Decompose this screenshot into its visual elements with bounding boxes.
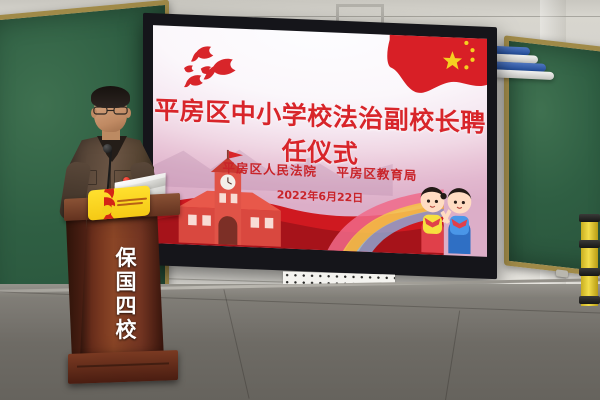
microphone-head[interactable]: [103, 144, 112, 153]
led-screen[interactable]: 平房区中小学校法治副校长聘任仪式 平房区人民法院 平房区教育局 2022年6月2…: [143, 13, 497, 280]
yellow-black-warning-pole: [581, 214, 598, 306]
podium-char-2: 国: [116, 272, 137, 293]
podium-base: [68, 350, 178, 384]
eyeglasses-icon: [93, 106, 128, 115]
speaker-hair: [91, 86, 130, 108]
podium-char-1: 保: [116, 248, 137, 269]
school-name-text-block: [117, 193, 147, 212]
organizer-education-bureau: 平房区教育局: [336, 164, 417, 182]
organizer-court: 平房区人民法院: [223, 160, 318, 179]
podium-char-4: 校: [116, 320, 137, 341]
china-flag-icon: [380, 26, 487, 109]
podium-sign-text: 保 国 四 校: [106, 248, 146, 341]
school-crest-plaque: [88, 185, 150, 220]
photo-scene: 平房区中小学校法治副校长聘任仪式 平房区人民法院 平房区教育局 2022年6月2…: [0, 0, 600, 400]
podium-base-groove: [77, 362, 169, 367]
board-bracket: [556, 269, 568, 277]
podium-char-3: 四: [116, 296, 137, 317]
speaking-podium: 保 国 四 校: [62, 196, 182, 382]
slide-surface: 平房区中小学校法治副校长聘任仪式 平房区人民法院 平房区教育局 2022年6月2…: [153, 25, 487, 257]
